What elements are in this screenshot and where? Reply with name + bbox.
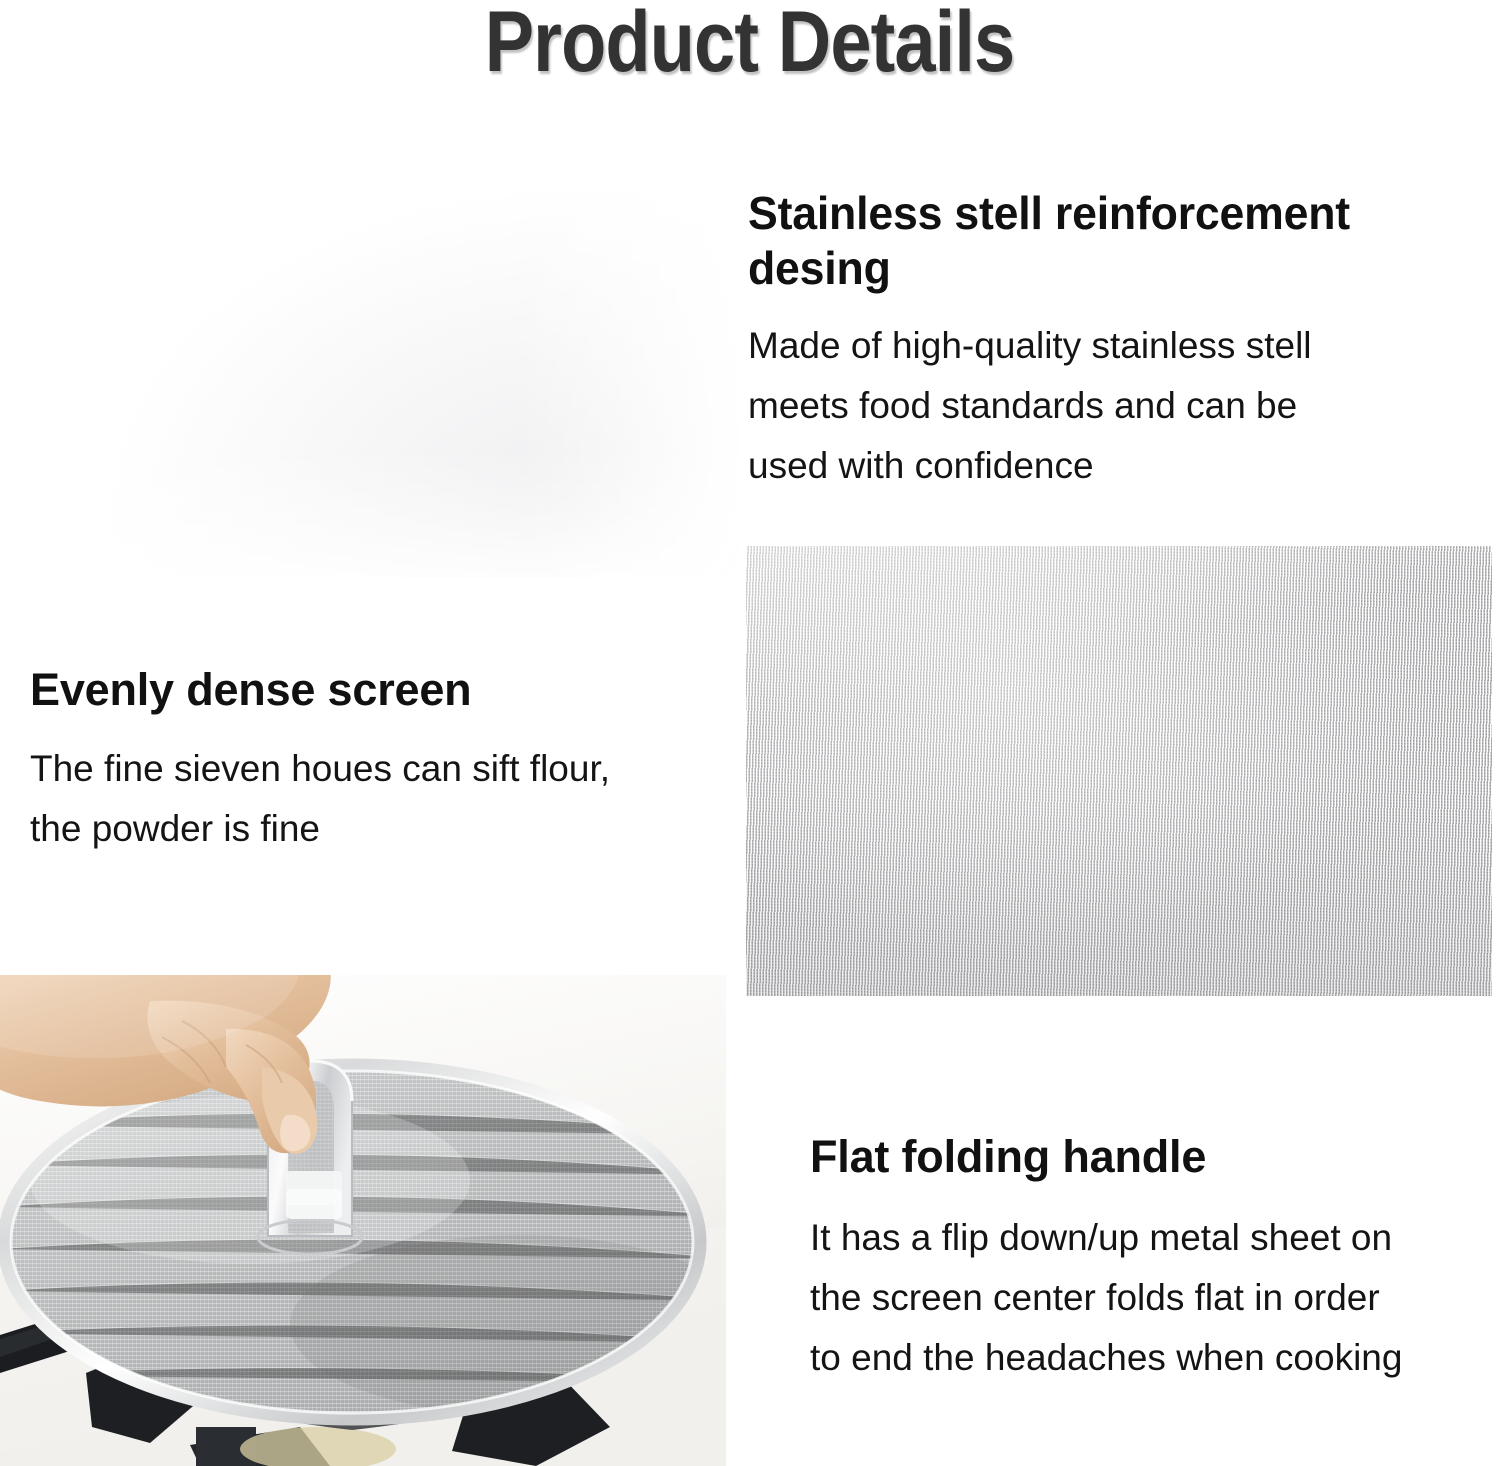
image-lifestyle-handle — [0, 975, 726, 1466]
image-mesh-swatch — [746, 546, 1492, 996]
lifestyle-illustration — [0, 975, 726, 1466]
feature-screen-heading: Evenly dense screen — [30, 663, 720, 717]
feature-steel-text: Stainless stell reinforcement desing Mad… — [748, 186, 1493, 496]
feature-handle-body: It has a flip down/up metal sheet on the… — [810, 1208, 1490, 1388]
page-title: Product Details — [105, 0, 1394, 90]
feature-screen-body: The fine sieven houes can sift flour, th… — [30, 739, 720, 859]
feature-steel-heading: Stainless stell reinforcement desing — [748, 186, 1471, 296]
product-details-page: Product Details Stainless stell reinforc… — [0, 0, 1499, 1466]
feature-steel-body: Made of high-quality stainless stell mee… — [748, 316, 1493, 496]
feature-handle-heading: Flat folding handle — [810, 1130, 1490, 1184]
image-rim-closeup — [0, 113, 740, 578]
feature-handle-text: Flat folding handle It has a flip down/u… — [810, 1130, 1490, 1388]
mesh-sheen — [746, 546, 1492, 996]
feature-screen-text: Evenly dense screen The fine sieven houe… — [30, 663, 720, 859]
photo-vignette — [0, 113, 740, 578]
